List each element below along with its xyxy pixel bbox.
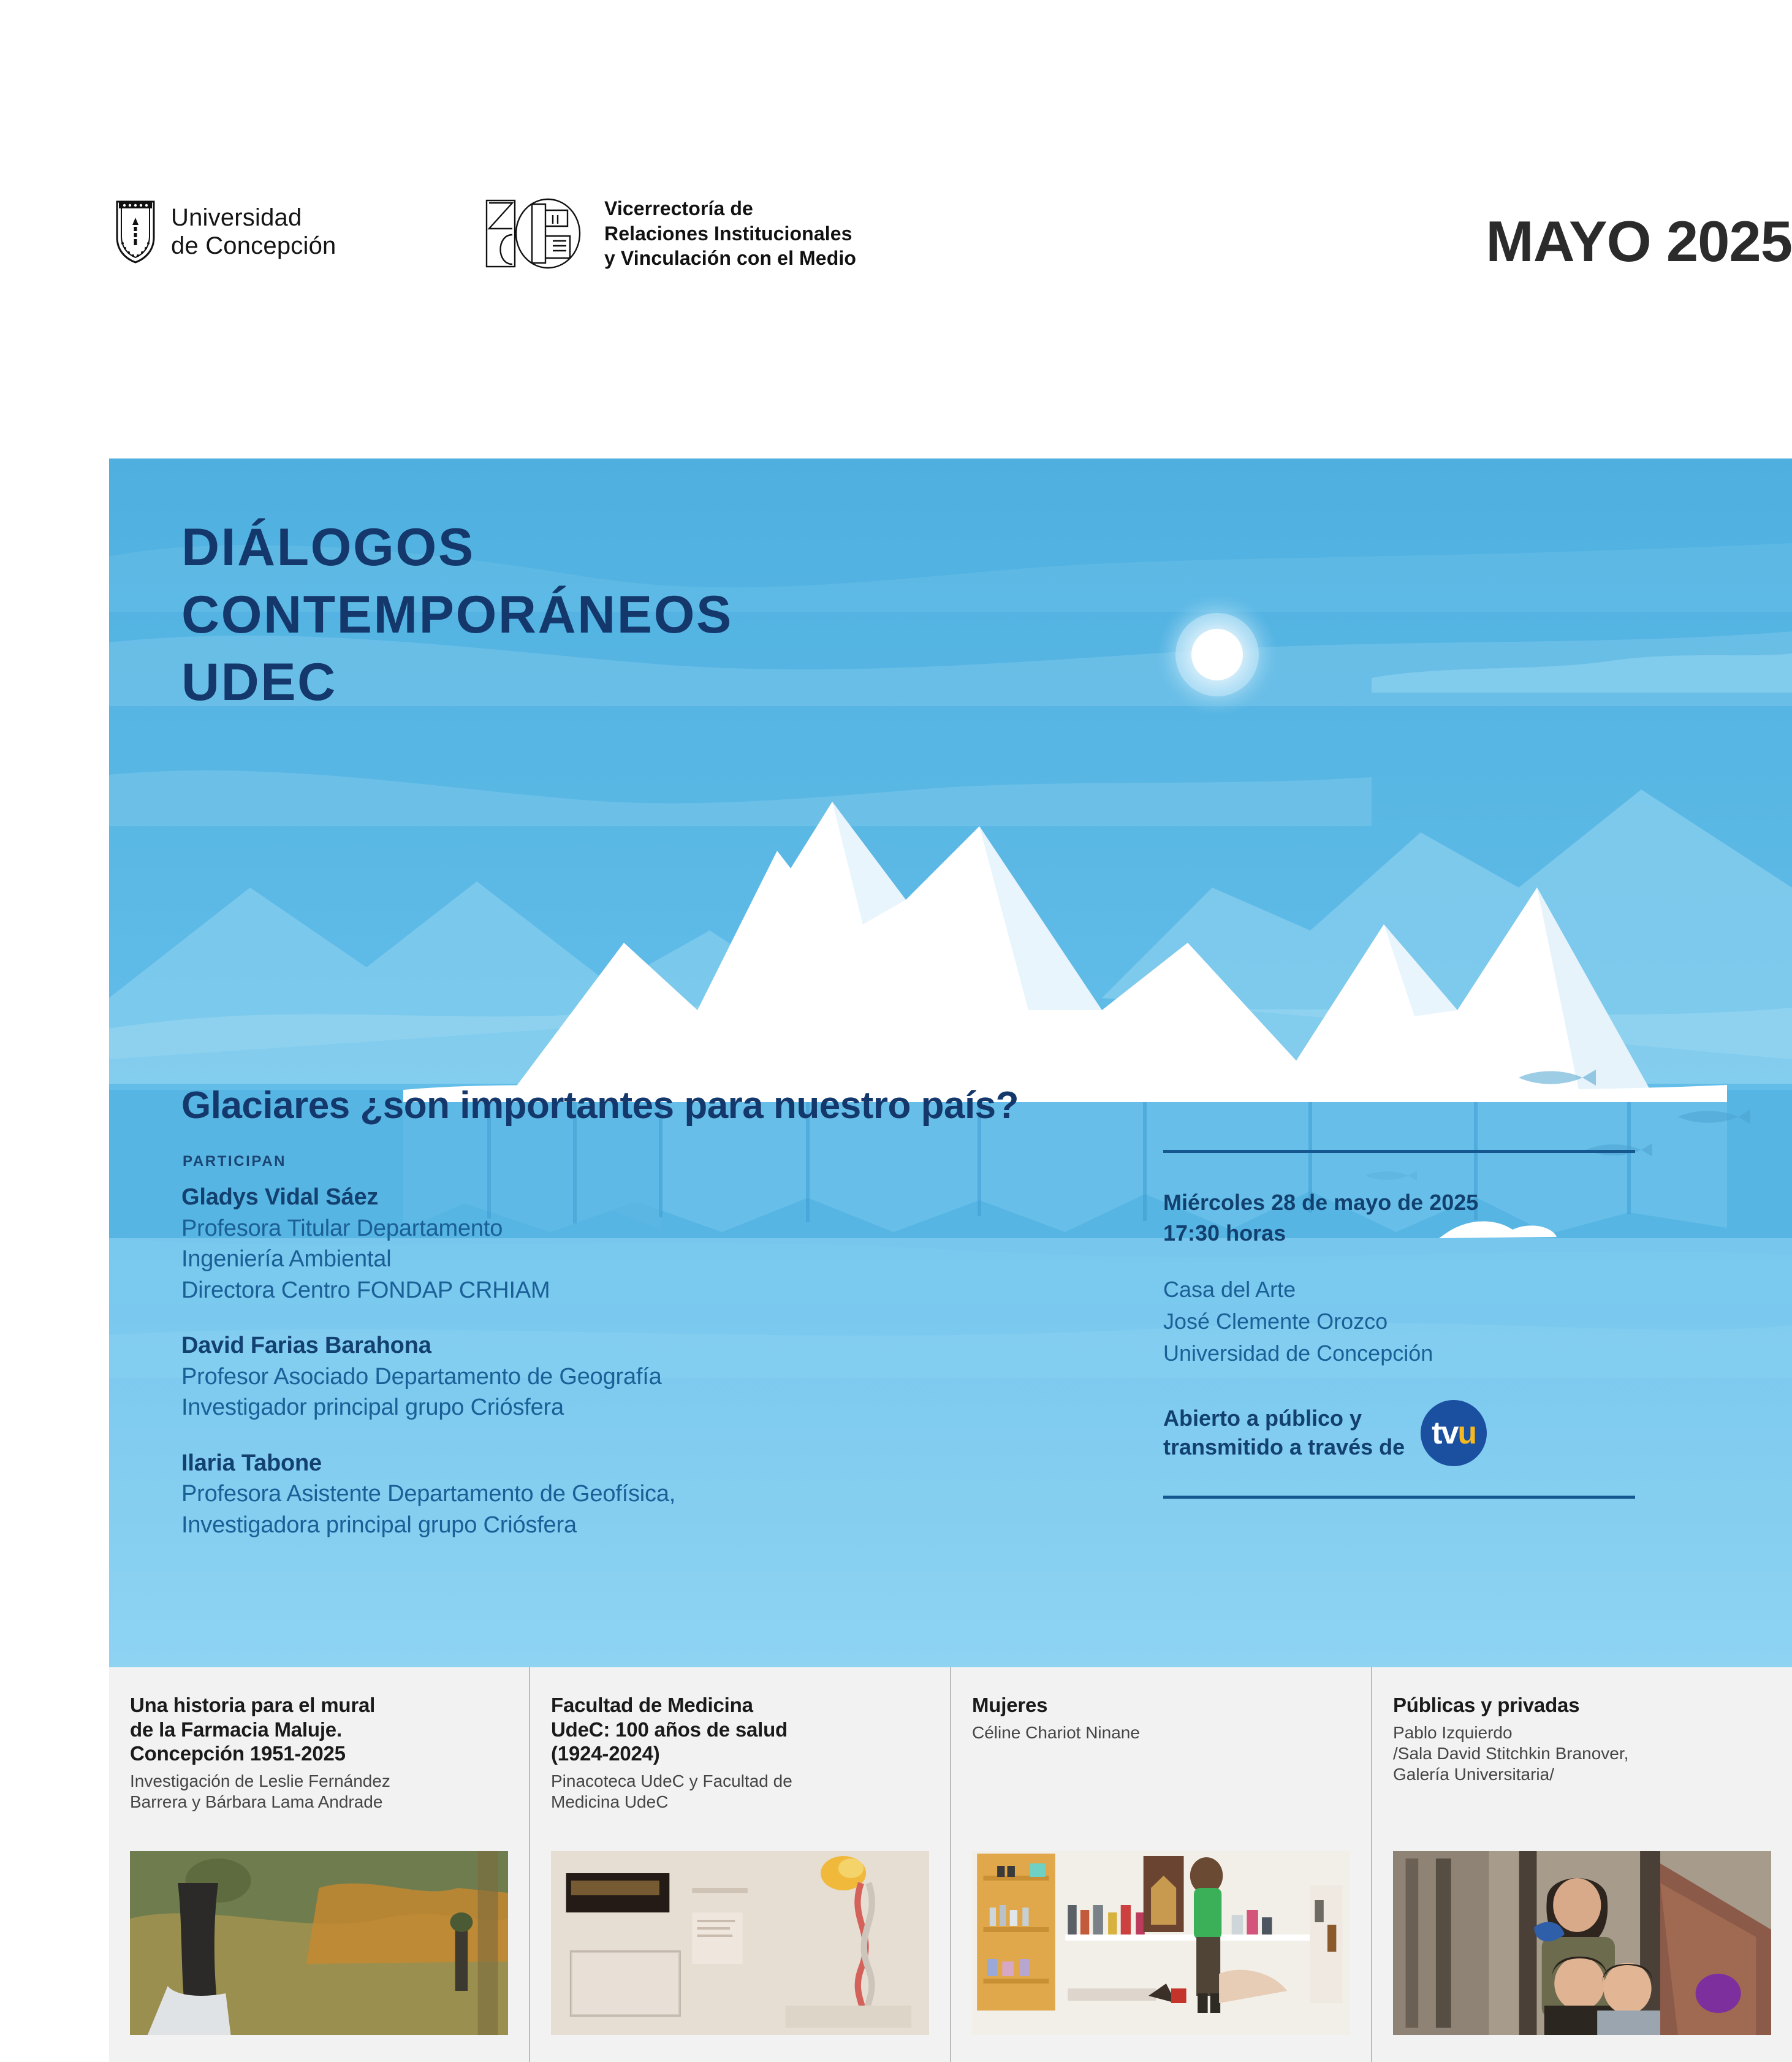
speaker-item: Ilaria Tabone Profesora Asistente Depart… [181,1448,1101,1541]
exhibition-subtitle: Pablo Izquierdo /Sala David Stitchkin Br… [1393,1722,1771,1785]
banner-title-line-3: UDEC [181,649,733,716]
broadcast-line-2: transmitido a través de [1163,1433,1405,1462]
mujeres-installation-photo [972,1851,1350,2035]
broadcast-info: Abierto a público y transmitido a través… [1163,1400,1635,1466]
exhibition-title-line: de la Farmacia Maluje. [130,1718,508,1742]
exhibition-subtitle-line: /Sala David Stitchkin Branover, [1393,1743,1771,1764]
speaker-role-line: Profesor Asociado Departamento de Geogra… [181,1361,1101,1393]
speaker-name: Gladys Vidal Sáez [181,1182,1101,1213]
exhibition-subtitle-line: Investigación de Leslie Fernández [130,1771,508,1792]
tvu-wordmark: tvu [1432,1417,1476,1449]
broadcast-text: Abierto a público y transmitido a través… [1163,1404,1405,1462]
speaker-item: David Farias Barahona Profesor Asociado … [181,1330,1101,1423]
exhibition-card[interactable]: Facultad de Medicina UdeC: 100 años de s… [529,1667,950,2062]
exhibition-subtitle: Céline Chariot Ninane [972,1722,1350,1743]
month-year-heading: MAYO 2025 [1486,208,1792,275]
event-title: Glaciares ¿son importantes para nuestro … [181,1084,1019,1127]
info-divider-top [1163,1150,1635,1153]
exhibition-card[interactable]: Mujeres Céline Chariot Ninane [950,1667,1371,2062]
speaker-item: Gladys Vidal Sáez Profesora Titular Depa… [181,1182,1101,1306]
exhibition-title-line: Mujeres [972,1693,1350,1718]
banner-title-line-1: DIÁLOGOS [181,514,733,581]
event-venue: Casa del Arte José Clemente Orozco Unive… [1163,1274,1635,1369]
speaker-role-line: Investigador principal grupo Criósfera [181,1392,1101,1423]
exhibition-subtitle-line: Pablo Izquierdo [1393,1722,1771,1743]
vrim-line1: Vicerrectoría de [604,196,856,221]
exhibition-card[interactable]: Una historia para el mural de la Farmaci… [109,1667,529,2062]
exhibition-subtitle-line: Medicina UdeC [551,1792,929,1813]
exhibition-title-line: Una historia para el mural [130,1693,508,1718]
event-banner: DIÁLOGOS CONTEMPORÁNEOS UDEC Glaciares ¿… [109,458,1792,1667]
exhibitions-strip: Una historia para el mural de la Farmaci… [109,1667,1792,2062]
exhibition-title-line: (1924-2024) [551,1741,929,1766]
exhibition-title-line: UdeC: 100 años de salud [551,1718,929,1742]
event-datetime: Miércoles 28 de mayo de 2025 17:30 horas [1163,1187,1635,1248]
speaker-name: Ilaria Tabone [181,1448,1101,1479]
exhibition-subtitle-line: Galería Universitaria/ [1393,1764,1771,1785]
exhibition-title: Facultad de Medicina UdeC: 100 años de s… [551,1693,929,1766]
exhibition-card[interactable]: Públicas y privadas Pablo Izquierdo /Sal… [1371,1667,1792,2062]
universidad-de-concepcion-logo: Universidad de Concepción [113,199,336,264]
info-divider-bottom [1163,1496,1635,1499]
speakers-list: Gladys Vidal Sáez Profesora Titular Depa… [181,1182,1101,1565]
exhibition-subtitle-line: Pinacoteca UdeC y Facultad de [551,1771,929,1792]
broadcast-line-1: Abierto a público y [1163,1404,1405,1433]
exhibition-title-line: Públicas y privadas [1393,1693,1771,1718]
medicine-exhibit-photo [551,1851,929,2035]
event-info-column: Miércoles 28 de mayo de 2025 17:30 horas… [1163,1150,1635,1499]
vrim-line2: Relaciones Institucionales [604,221,856,246]
participan-label: PARTICIPAN [183,1153,286,1170]
speaker-role-line: Profesora Titular Departamento [181,1213,1101,1244]
vicerrectoria-label: Vicerrectoría de Relaciones Instituciona… [604,196,856,271]
exhibition-subtitle: Investigación de Leslie Fernández Barrer… [130,1771,508,1813]
speaker-role-line: Investigadora principal grupo Criósfera [181,1510,1101,1541]
exhibition-title: Públicas y privadas [1393,1693,1771,1718]
banner-title-line-2: CONTEMPORÁNEOS [181,581,733,649]
speaker-role-line: Profesora Asistente Departamento de Geof… [181,1478,1101,1510]
exhibition-subtitle: Pinacoteca UdeC y Facultad de Medicina U… [551,1771,929,1813]
venue-line: José Clemente Orozco [1163,1306,1635,1337]
speaker-name: David Farias Barahona [181,1330,1101,1361]
event-time: 17:30 horas [1163,1218,1635,1249]
event-date: Miércoles 28 de mayo de 2025 [1163,1187,1635,1218]
exhibition-subtitle-line: Barrera y Bárbara Lama Andrade [130,1792,508,1813]
vicerrectoria-logo: Vicerrectoría de Relaciones Instituciona… [484,196,856,271]
vrim-monogram-icon [484,197,588,270]
venue-line: Universidad de Concepción [1163,1337,1635,1369]
exhibition-title: Una historia para el mural de la Farmaci… [130,1693,508,1766]
tvu-logo-icon[interactable]: tvu [1421,1400,1487,1466]
banner-title: DIÁLOGOS CONTEMPORÁNEOS UDEC [181,514,733,716]
exhibition-title-line: Concepción 1951-2025 [130,1741,508,1766]
mural-painting-photo [130,1851,508,2035]
exhibition-title: Mujeres [972,1693,1350,1718]
family-portrait-photo [1393,1851,1771,2035]
venue-line: Casa del Arte [1163,1274,1635,1306]
speaker-role-line: Ingeniería Ambiental [181,1244,1101,1275]
universidad-line2: de Concepción [171,232,336,260]
universidad-line1: Universidad [171,204,336,232]
vrim-line3: y Vinculación con el Medio [604,246,856,271]
universidad-label: Universidad de Concepción [171,204,336,261]
page-header: Universidad de Concepción [0,0,1792,429]
exhibition-subtitle-line: Céline Chariot Ninane [972,1722,1350,1743]
exhibition-title-line: Facultad de Medicina [551,1693,929,1718]
udec-shield-icon [113,199,158,264]
speaker-role-line: Directora Centro FONDAP CRHIAM [181,1275,1101,1306]
